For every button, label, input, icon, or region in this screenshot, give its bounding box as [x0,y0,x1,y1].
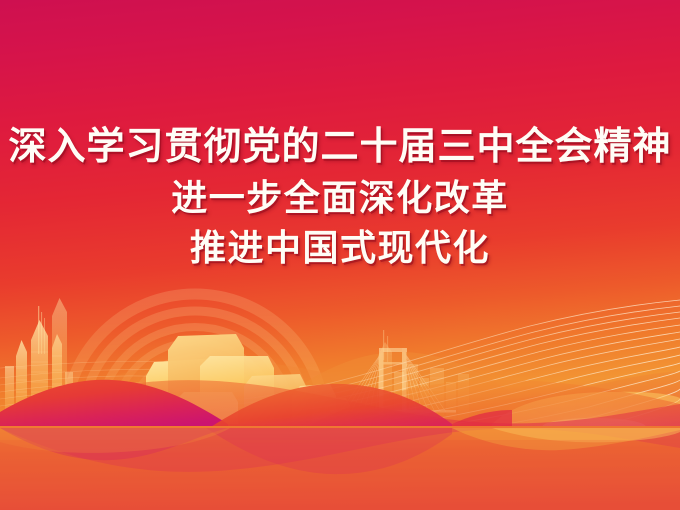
poster-canvas: 深入学习贯彻党的二十届三中全会精神 进一步全面深化改革 推进中国式现代化 [0,0,680,510]
poster-artwork [0,0,680,510]
